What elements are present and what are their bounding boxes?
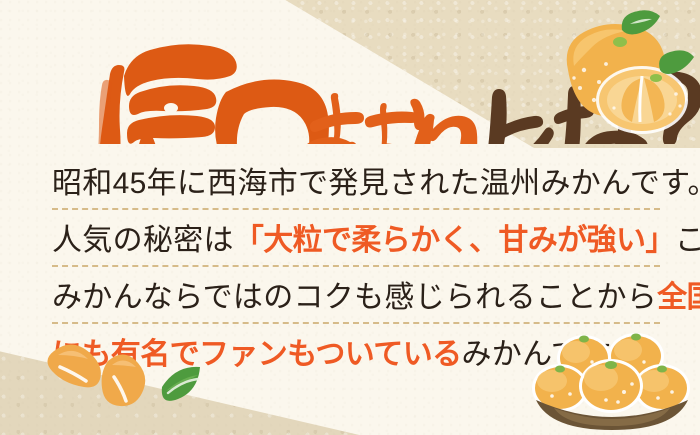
title-artwork (0, 24, 700, 144)
body-line-2-segment-3: こと。 (675, 224, 700, 257)
bowl-icon (536, 400, 688, 430)
body-line-2-highlight: 「大粒で柔らかく、甘みが強い」 (234, 224, 675, 257)
title-glyph-towa (488, 72, 700, 144)
body-line-2: 人気の秘密は「大粒で柔らかく、甘みが強い」こと。 (52, 217, 660, 265)
banner-title (0, 24, 700, 144)
divider-1 (52, 208, 660, 217)
body-line-2-segment-1: 人気の秘密は (52, 224, 234, 257)
body-line-4-highlight: にも有名でファンもついている (52, 338, 462, 371)
body-line-3-highlight: 全国的 (657, 281, 700, 314)
divider-2 (52, 265, 660, 274)
body-line-1: 昭和45年に西海市で発見された温州みかんです。 (52, 160, 660, 208)
body-line-3-segment-1: みかんならではのコクも感じられることから (52, 281, 657, 314)
body-text-block: 昭和45年に西海市で発見された温州みかんです。 人気の秘密は「大粒で柔らかく、甘… (52, 160, 660, 379)
body-line-3: みかんならではのコクも感じられることから全国的 (52, 274, 660, 322)
title-glyph-kuchi (215, 80, 329, 144)
body-line-4-segment-2: みかんです。 (462, 338, 639, 371)
body-line-1-segment-1: 昭和45年に西海市で発見された温州みかんです。 (52, 167, 700, 200)
divider-3 (52, 322, 660, 331)
mikan-info-banner: 昭和45年に西海市で発見された温州みかんです。 人気の秘密は「大粒で柔らかく、甘… (0, 0, 700, 435)
body-line-4: にも有名でファンもついているみかんです。 (52, 331, 660, 379)
